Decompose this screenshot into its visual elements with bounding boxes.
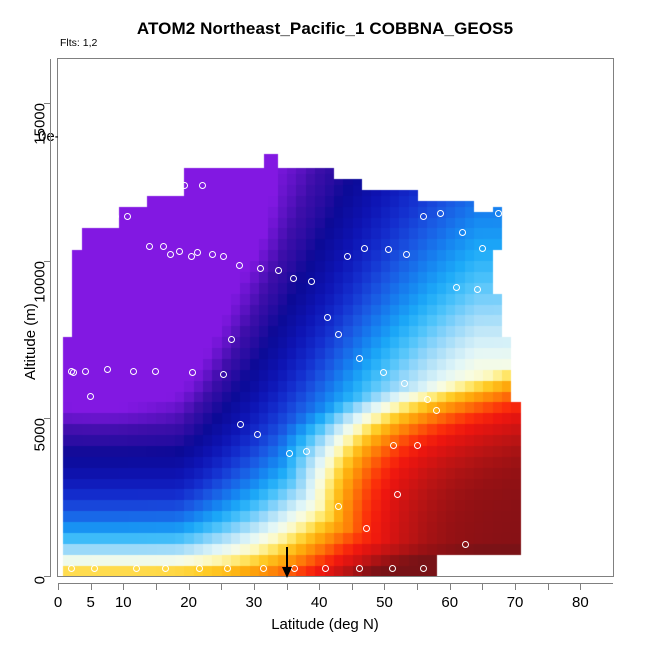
heatmap-plot-area bbox=[58, 59, 613, 576]
y-axis-tick-label: 10000 bbox=[32, 261, 49, 303]
track-point-marker bbox=[389, 565, 396, 572]
track-point-marker bbox=[167, 251, 174, 258]
track-point-marker bbox=[290, 275, 297, 282]
y-axis-tick-label: 15000 bbox=[32, 103, 49, 145]
track-point-marker bbox=[424, 396, 431, 403]
x-axis-line bbox=[58, 583, 613, 584]
track-point-marker bbox=[254, 431, 261, 438]
latitude-marker-arrow bbox=[280, 547, 294, 581]
track-point-marker bbox=[308, 278, 315, 285]
x-axis-tick bbox=[91, 583, 92, 590]
x-axis-tick bbox=[319, 583, 320, 590]
track-point-marker bbox=[344, 253, 351, 260]
heatmap-canvas bbox=[58, 59, 613, 576]
x-axis-tick bbox=[287, 583, 288, 590]
x-axis-tick bbox=[221, 583, 222, 590]
track-point-marker bbox=[474, 286, 481, 293]
track-point-marker bbox=[112, 213, 119, 220]
y-axis-tick-label: 5000 bbox=[32, 418, 49, 451]
track-point-marker bbox=[356, 565, 363, 572]
x-axis-tick-label: 20 bbox=[175, 594, 203, 611]
track-point-marker bbox=[196, 565, 203, 572]
flights-annotation: Flts: 1,2 bbox=[60, 37, 97, 49]
x-axis-tick-label: 80 bbox=[566, 594, 594, 611]
x-axis-tick bbox=[580, 583, 581, 590]
track-point-marker bbox=[124, 213, 131, 220]
y-axis-label: Altitude (m) bbox=[22, 303, 39, 380]
page-title: ATOM2 Northeast_Pacific_1 COBBNA_GEOS5 bbox=[0, 19, 650, 39]
track-point-marker bbox=[380, 369, 387, 376]
track-point-marker bbox=[146, 243, 153, 250]
x-axis-tick bbox=[254, 583, 255, 590]
track-point-marker bbox=[220, 253, 227, 260]
track-point-marker bbox=[401, 380, 408, 387]
track-point-marker bbox=[414, 442, 421, 449]
track-point-marker bbox=[420, 565, 427, 572]
track-point-marker bbox=[77, 213, 84, 220]
x-axis-tick bbox=[58, 583, 59, 590]
track-point-marker bbox=[275, 267, 282, 274]
x-axis-tick bbox=[515, 583, 516, 590]
track-point-marker bbox=[303, 448, 310, 455]
x-axis-tick bbox=[417, 583, 418, 590]
y-axis-tick-label: 0 bbox=[32, 576, 49, 584]
track-point-marker bbox=[68, 565, 75, 572]
x-axis-tick bbox=[548, 583, 549, 590]
track-point-marker bbox=[479, 245, 486, 252]
track-point-marker bbox=[260, 565, 267, 572]
track-point-marker bbox=[361, 245, 368, 252]
track-point-marker bbox=[363, 525, 370, 532]
track-point-marker bbox=[324, 314, 331, 321]
track-point-marker bbox=[162, 565, 169, 572]
track-point-marker bbox=[286, 450, 293, 457]
x-axis-tick bbox=[123, 583, 124, 590]
track-point-marker bbox=[176, 248, 183, 255]
x-axis-tick-label: 5 bbox=[77, 594, 105, 611]
track-point-marker bbox=[209, 251, 216, 258]
x-axis-tick bbox=[156, 583, 157, 590]
track-point-marker bbox=[390, 442, 397, 449]
figure-canvas: ATOM2 Northeast_Pacific_1 COBBNA_GEOS5 F… bbox=[0, 0, 650, 650]
x-axis-tick-label: 0 bbox=[44, 594, 72, 611]
x-axis-tick bbox=[189, 583, 190, 590]
x-axis-tick-label: 30 bbox=[240, 594, 268, 611]
x-axis-tick bbox=[384, 583, 385, 590]
track-point-marker bbox=[236, 262, 243, 269]
x-axis-label: Latitude (deg N) bbox=[0, 616, 650, 633]
y-axis-line bbox=[50, 59, 51, 576]
track-point-marker bbox=[224, 565, 231, 572]
x-axis-tick bbox=[482, 583, 483, 590]
x-axis-tick bbox=[352, 583, 353, 590]
track-point-marker bbox=[188, 253, 195, 260]
track-point-marker bbox=[394, 491, 401, 498]
x-axis-tick-label: 50 bbox=[370, 594, 398, 611]
x-axis-tick-label: 10 bbox=[109, 594, 137, 611]
track-point-marker bbox=[453, 284, 460, 291]
x-axis-tick-label: 40 bbox=[305, 594, 333, 611]
track-point-marker bbox=[181, 182, 188, 189]
track-point-marker bbox=[91, 565, 98, 572]
track-point-marker bbox=[130, 368, 137, 375]
track-point-marker bbox=[322, 565, 329, 572]
track-point-marker bbox=[257, 265, 264, 272]
x-axis-tick-label: 70 bbox=[501, 594, 529, 611]
x-axis-tick bbox=[450, 583, 451, 590]
track-point-marker bbox=[87, 393, 94, 400]
x-axis-tick-label: 60 bbox=[436, 594, 464, 611]
track-point-marker bbox=[462, 541, 469, 548]
track-point-marker bbox=[82, 368, 89, 375]
track-point-marker bbox=[133, 565, 140, 572]
track-point-marker bbox=[495, 210, 502, 217]
